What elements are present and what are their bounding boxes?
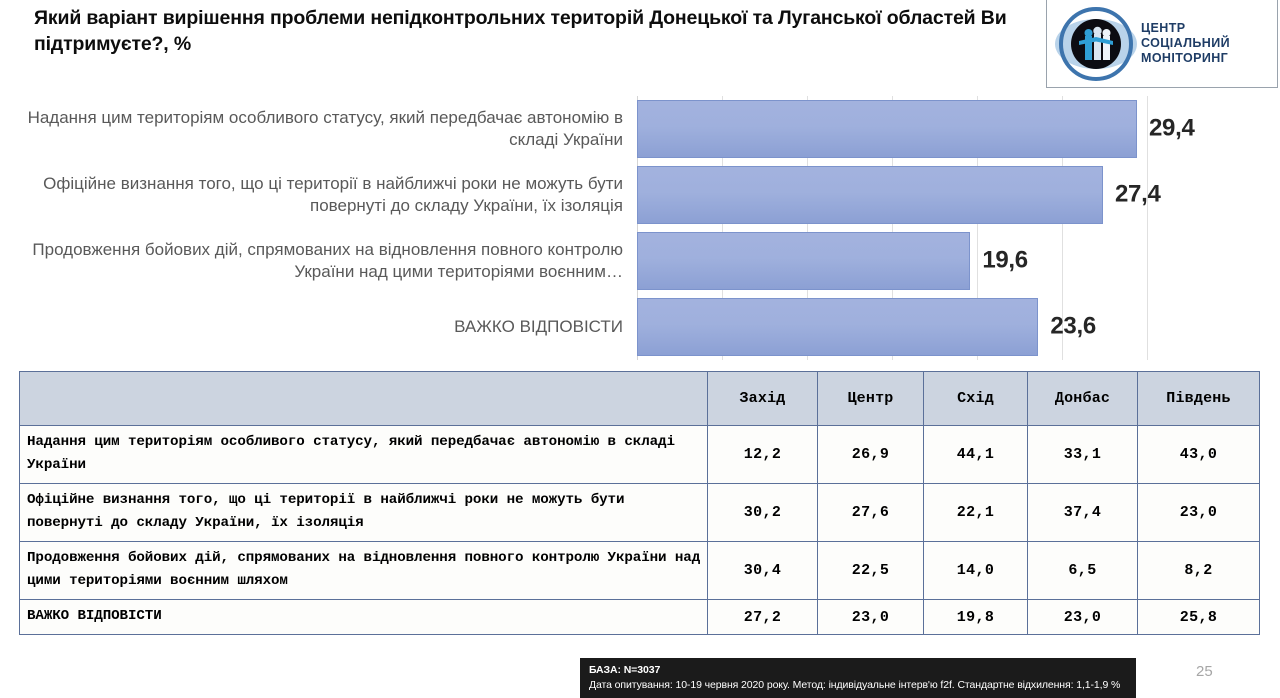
page-title: Який варіант вирішення проблеми непідкон… [34, 6, 1019, 57]
chart-bar-row: 29,4 [637, 100, 1225, 158]
table-row: ВАЖКО ВІДПОВІСТИ27,223,019,823,025,8 [20, 600, 1260, 635]
chart-category-label: Продовження бойових дій, спрямованих на … [23, 227, 623, 295]
chart-category-label: Надання цим територіям особливого статус… [23, 95, 623, 163]
footer-base-label: БАЗА: N=3037 [589, 663, 1136, 677]
footer-note-bar: БАЗА: N=3037 Дата опитування: 10-19 черв… [580, 658, 1136, 698]
chart-category-label: Офіційне визнання того, що ці території … [23, 161, 623, 229]
table-cell-value: 22,5 [818, 542, 924, 600]
bar-chart: Надання цим територіям особливого статус… [0, 96, 1280, 362]
chart-bar-value-label: 19,6 [982, 246, 1028, 274]
table-row-label: Офіційне визнання того, що ці території … [20, 484, 708, 542]
logo: ЦЕНТР СОЦІАЛЬНИЙ МОНІТОРИНГ [1046, 0, 1278, 88]
table-cell-value: 23,0 [818, 600, 924, 635]
chart-bar[interactable] [637, 166, 1103, 224]
logo-line-2: СОЦІАЛЬНИЙ [1141, 36, 1230, 51]
table-body: Надання цим територіям особливого статус… [20, 426, 1260, 635]
chart-bar-row: 19,6 [637, 232, 1225, 290]
chart-bar-value-label: 27,4 [1115, 180, 1161, 208]
slide: Який варіант вирішення проблеми непідкон… [0, 0, 1280, 698]
table-row-label: ВАЖКО ВІДПОВІСТИ [20, 600, 708, 635]
chart-bar-value-label: 29,4 [1149, 114, 1195, 142]
table-row: Надання цим територіям особливого статус… [20, 426, 1260, 484]
table-cell-value: 6,5 [1028, 542, 1138, 600]
logo-text: ЦЕНТР СОЦІАЛЬНИЙ МОНІТОРИНГ [1141, 21, 1230, 67]
regional-breakdown-table: Захід Центр Схід Донбас Південь Надання … [19, 371, 1260, 635]
table-cell-value: 30,2 [708, 484, 818, 542]
table-cell-value: 33,1 [1028, 426, 1138, 484]
table-cell-value: 12,2 [708, 426, 818, 484]
table-cell-value: 8,2 [1138, 542, 1260, 600]
table-col-header-4: Південь [1138, 372, 1260, 426]
table-col-header-1: Центр [818, 372, 924, 426]
table-cell-value: 30,4 [708, 542, 818, 600]
table-cell-value: 19,8 [924, 600, 1028, 635]
table-corner-cell [20, 372, 708, 426]
table-cell-value: 27,6 [818, 484, 924, 542]
table-col-header-0: Захід [708, 372, 818, 426]
table-cell-value: 43,0 [1138, 426, 1260, 484]
chart-category-label: ВАЖКО ВІДПОВІСТИ [23, 293, 623, 361]
footer-method-note: Дата опитування: 10-19 червня 2020 року.… [589, 678, 1136, 693]
table-row: Продовження бойових дій, спрямованих на … [20, 542, 1260, 600]
table-cell-value: 23,0 [1028, 600, 1138, 635]
chart-plot-area: 29,427,419,623,6 [637, 96, 1225, 360]
page-number: 25 [1196, 663, 1213, 680]
table-header: Захід Центр Схід Донбас Південь [20, 372, 1260, 426]
table-col-header-2: Схід [924, 372, 1028, 426]
table-cell-value: 26,9 [818, 426, 924, 484]
table-header-row: Захід Центр Схід Донбас Південь [20, 372, 1260, 426]
table-row-label: Продовження бойових дій, спрямованих на … [20, 542, 708, 600]
chart-bar-value-label: 23,6 [1050, 312, 1096, 340]
table-cell-value: 14,0 [924, 542, 1028, 600]
chart-bar-row: 23,6 [637, 298, 1225, 356]
logo-line-1: ЦЕНТР [1141, 21, 1230, 36]
logo-line-3: МОНІТОРИНГ [1141, 51, 1230, 66]
table-row-label: Надання цим територіям особливого статус… [20, 426, 708, 484]
table-row: Офіційне визнання того, що ці території … [20, 484, 1260, 542]
table-cell-value: 44,1 [924, 426, 1028, 484]
table-col-header-3: Донбас [1028, 372, 1138, 426]
table-cell-value: 22,1 [924, 484, 1028, 542]
chart-bar[interactable] [637, 232, 970, 290]
chart-bar[interactable] [637, 298, 1038, 356]
table-cell-value: 23,0 [1138, 484, 1260, 542]
table-cell-value: 37,4 [1028, 484, 1138, 542]
table-cell-value: 25,8 [1138, 600, 1260, 635]
chart-bar-row: 27,4 [637, 166, 1225, 224]
table-cell-value: 27,2 [708, 600, 818, 635]
chart-bar[interactable] [637, 100, 1137, 158]
social-monitoring-emblem-icon [1053, 4, 1139, 84]
